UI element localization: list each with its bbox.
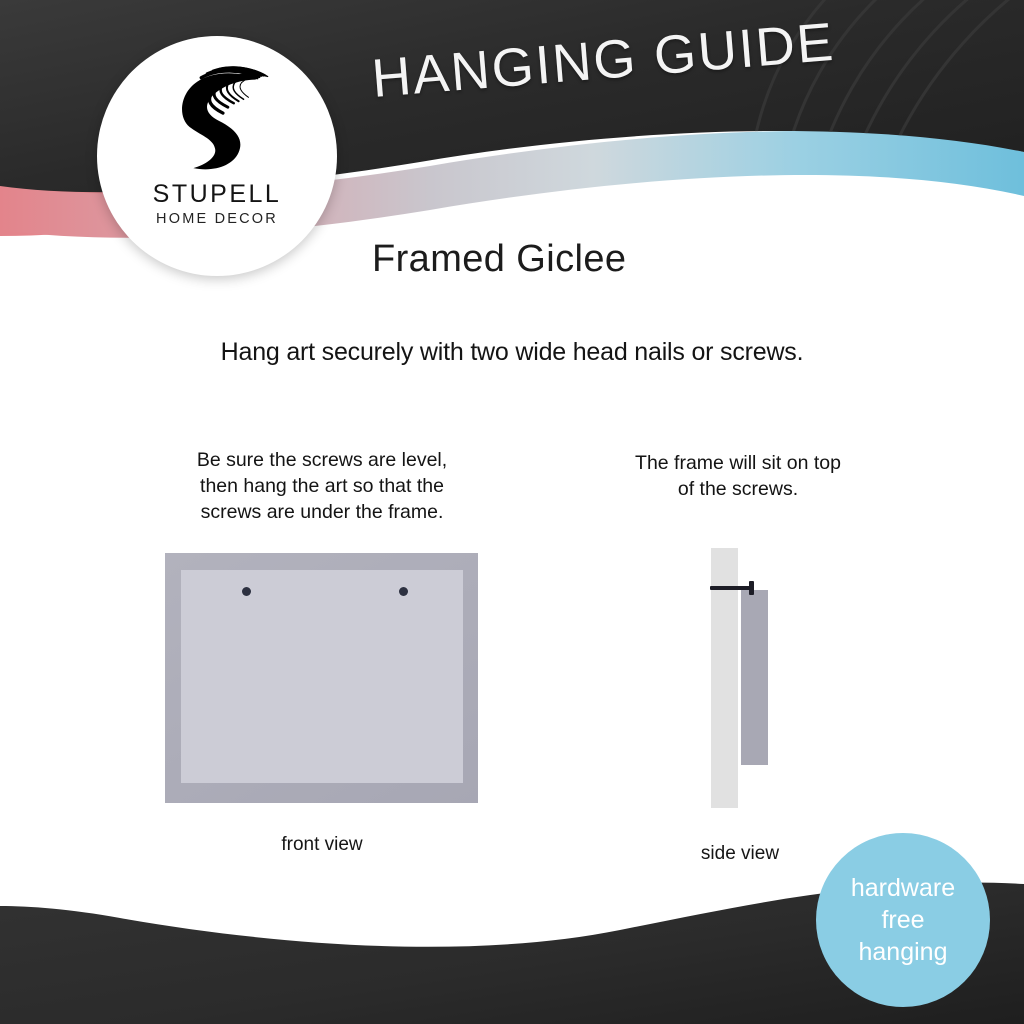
hardware-free-hanging-badge: hardware free hanging: [816, 833, 990, 1007]
nail-icon: [710, 586, 754, 590]
front-view-diagram: [165, 553, 478, 803]
frame-mat-area: [181, 570, 463, 783]
nail-head-icon: [749, 581, 754, 595]
side-caption-line-2: of the screws.: [602, 476, 874, 502]
lead-instruction: Hang art securely with two wide head nai…: [0, 338, 1024, 367]
side-view-diagram: [700, 548, 810, 818]
stupell-swoosh-icon: [158, 58, 276, 176]
screw-dot-left: [242, 587, 251, 596]
badge-line-1: hardware: [851, 872, 955, 904]
brand-tagline: HOME DECOR: [156, 211, 278, 227]
front-caption-line-1: Be sure the screws are level,: [152, 447, 492, 473]
brand-name: STUPELL: [153, 180, 282, 209]
side-view-label: side view: [608, 843, 872, 865]
front-view-caption: Be sure the screws are level, then hang …: [152, 447, 492, 525]
side-view-caption: The frame will sit on top of the screws.: [602, 450, 874, 502]
frame-profile: [741, 590, 768, 765]
badge-line-3: hanging: [859, 936, 948, 968]
page-title: HANGING GUIDE: [370, 6, 893, 110]
front-caption-line-2: then hang the art so that the: [152, 473, 492, 499]
badge-line-2: free: [881, 904, 924, 936]
front-view-label: front view: [152, 834, 492, 856]
hanging-guide-page: HANGING GUIDE STUPELL HOME DECOR Framed …: [0, 0, 1024, 1024]
brand-logo-badge: STUPELL HOME DECOR: [97, 36, 337, 276]
side-caption-line-1: The frame will sit on top: [602, 450, 874, 476]
product-type-heading: Framed Giclee: [372, 238, 626, 281]
screw-dot-right: [399, 587, 408, 596]
front-caption-line-3: screws are under the frame.: [152, 499, 492, 525]
